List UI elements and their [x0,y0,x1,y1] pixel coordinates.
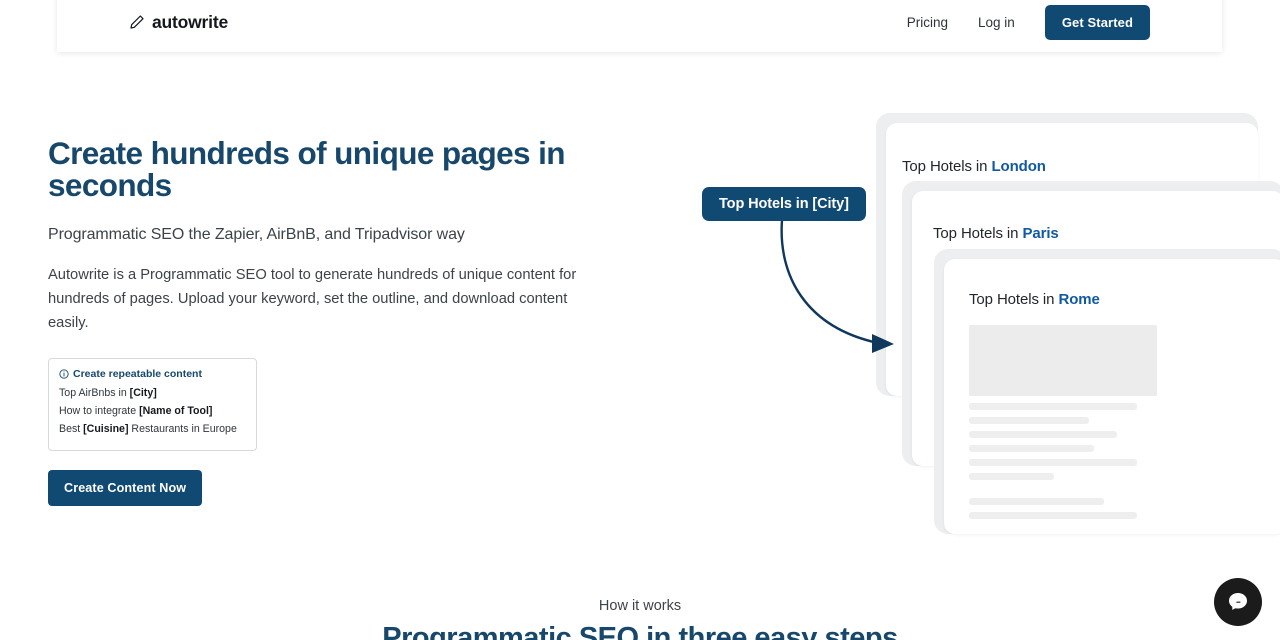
create-content-now-button[interactable]: Create Content Now [48,470,202,506]
skeleton-line [969,498,1104,505]
example-line: Best [Cuisine] Restaurants in Europe [59,420,245,438]
skeleton-line [969,403,1137,410]
example-line-prefix: Top AirBnbs in [59,387,130,399]
skeleton-line [969,417,1089,424]
chat-widget-button[interactable] [1214,578,1262,626]
how-it-works-label: How it works [0,598,1280,614]
preview-card-title-prefix: Top Hotels in [902,158,991,175]
example-line: Top AirBnbs in [City] [59,384,245,402]
main-nav: Pricing Log in Get Started [907,5,1150,40]
logo-text: autowrite [152,12,228,33]
skeleton-text-block [969,403,1280,519]
hero-body-text: Autowrite is a Programmatic SEO tool to … [48,264,588,336]
chat-bubble-icon [1226,590,1250,614]
preview-card-city: Paris [1022,225,1058,242]
skeleton-line [969,512,1137,519]
example-box-heading: Create repeatable content [59,368,245,380]
example-line-token: [City] [130,387,157,399]
example-line-token: [Name of Tool] [139,405,212,417]
pencil-icon [129,14,145,30]
preview-card-city: London [991,158,1045,175]
hero-copy: Create hundreds of unique pages in secon… [48,138,608,506]
how-it-works-title: Programmatic SEO in three easy steps [0,622,1280,640]
repeatable-content-example-box: Create repeatable content Top AirBnbs in… [48,358,257,451]
skeleton-line [969,459,1137,466]
nav-link-login[interactable]: Log in [978,15,1015,30]
page-title: Create hundreds of unique pages in secon… [48,138,568,201]
example-line: How to integrate [Name of Tool] [59,402,245,420]
example-line-prefix: Best [59,423,83,435]
preview-card-rome[interactable]: Top Hotels in Rome [934,249,1280,534]
example-line-prefix: How to integrate [59,405,139,417]
preview-card-title: Top Hotels in London [886,123,1258,175]
skeleton-line [969,473,1054,480]
nav-link-pricing[interactable]: Pricing [907,15,948,30]
preview-card-title: Top Hotels in Rome [944,259,1280,308]
hero-subtitle: Programmatic SEO the Zapier, AirBnB, and… [48,226,608,244]
get-started-button[interactable]: Get Started [1045,5,1150,40]
example-line-suffix: Restaurants in Europe [128,423,236,435]
site-header: autowrite Pricing Log in Get Started [57,0,1222,52]
skeleton-line [969,431,1117,438]
template-badge: Top Hotels in [City] [702,187,866,221]
preview-card-title-prefix: Top Hotels in [933,225,1022,242]
info-circle-icon [59,369,69,379]
example-box-title: Create repeatable content [73,368,202,380]
logo[interactable]: autowrite [129,12,228,33]
image-placeholder [969,325,1157,396]
preview-card-city: Rome [1058,291,1099,308]
example-line-token: [Cuisine] [83,423,128,435]
preview-card-title-prefix: Top Hotels in [969,291,1058,308]
skeleton-line [969,445,1094,452]
how-it-works-section: How it works Programmatic SEO in three e… [0,598,1280,640]
preview-card-inner: Top Hotels in Rome [944,259,1280,534]
preview-card-title: Top Hotels in Paris [912,191,1280,242]
